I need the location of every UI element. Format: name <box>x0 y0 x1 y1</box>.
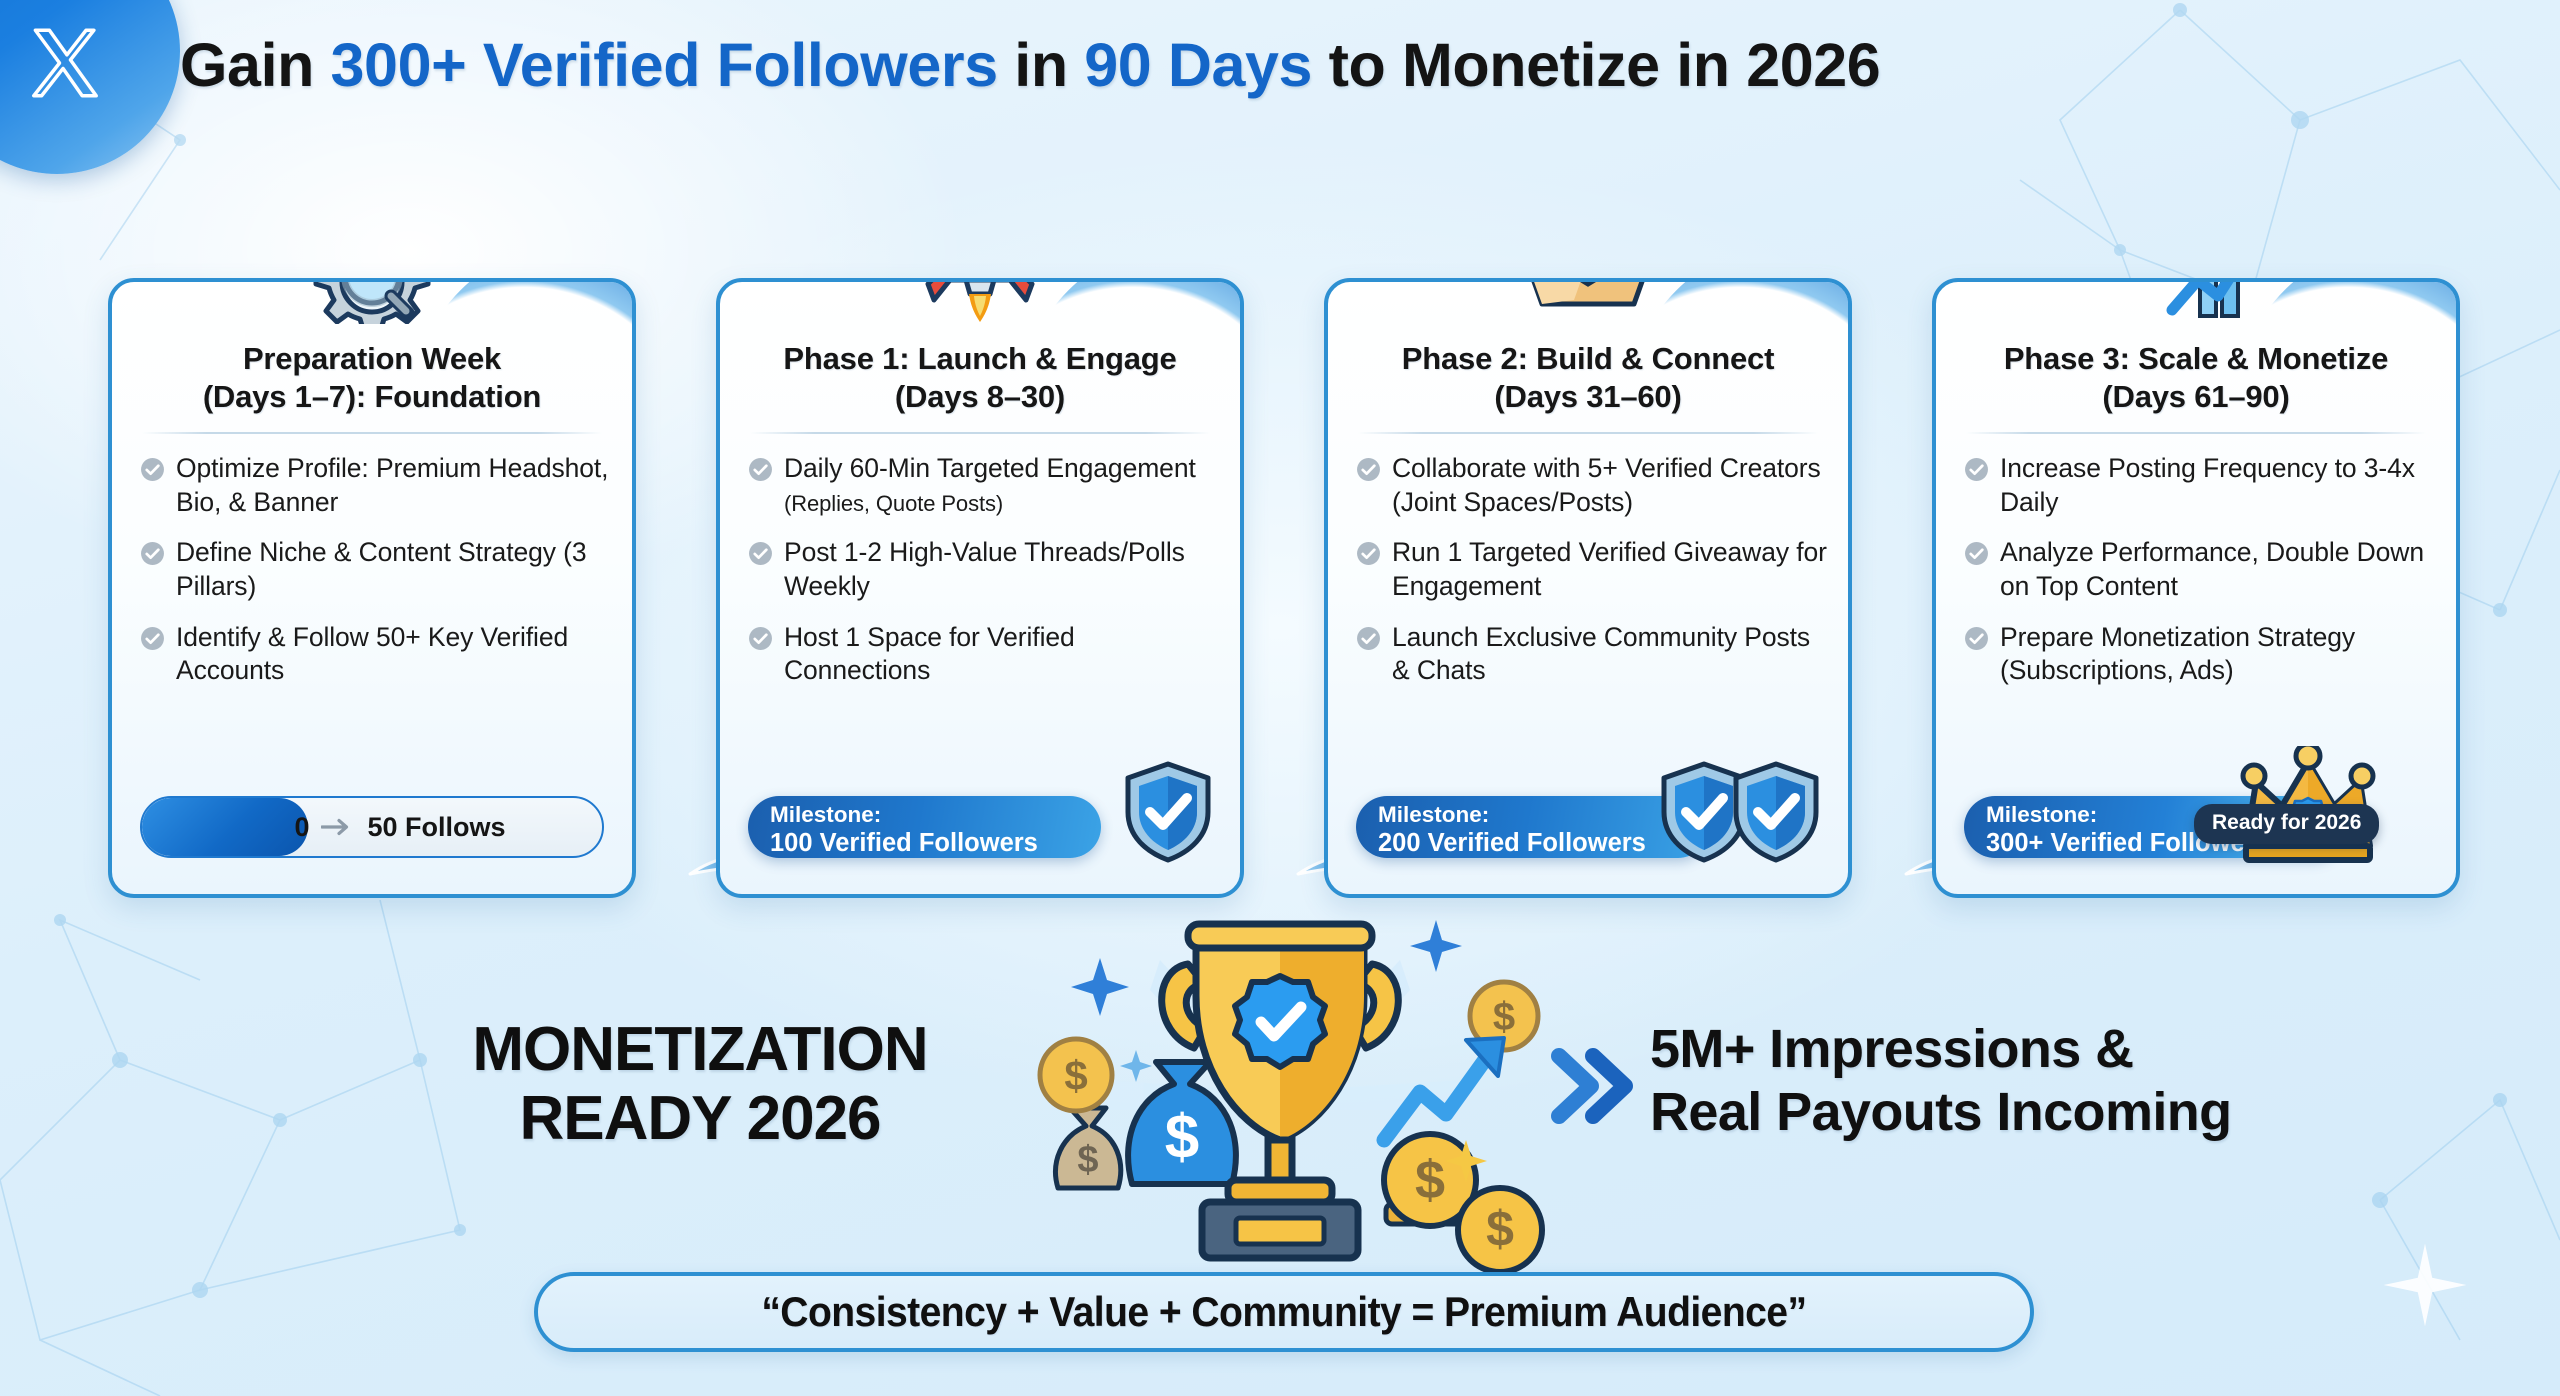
list-item: Optimize Profile: Premium Headshot, Bio,… <box>140 452 612 519</box>
progress-to-value: 50 Follows <box>367 812 505 843</box>
monetization-line2: READY 2026 <box>420 1084 980 1153</box>
list-item: Increase Posting Frequency to 3-4x Daily <box>1964 452 2436 519</box>
headline-highlight-2: 90 Days <box>1084 31 1312 99</box>
check-circle-icon <box>140 457 165 482</box>
bullet-text: Prepare Monetization Strategy (Subscript… <box>2000 622 2355 686</box>
card-title: Phase 2: Build & Connect (Days 31–60) <box>1350 340 1826 416</box>
list-item: Launch Exclusive Community Posts & Chats <box>1356 621 1828 688</box>
impressions-line2: Real Payouts Incoming <box>1650 1081 2480 1144</box>
page-title: Gain 300+ Verified Followers in 90 Days … <box>180 30 2510 100</box>
card-title-line2: (Days 8–30) <box>742 378 1218 416</box>
crown-growth-chart-icon <box>2104 278 2288 324</box>
card-title-line1: Phase 3: Scale & Monetize <box>1958 340 2434 378</box>
card-footer-pill: Milestone: 100 Verified Followers <box>748 796 1212 858</box>
card-title-line1: Phase 1: Launch & Engage <box>742 340 1218 378</box>
phase-card-preparation-week[interactable]: Preparation Week (Days 1–7): Foundation … <box>108 278 636 898</box>
list-item: Host 1 Space for Verified Connections <box>748 621 1220 688</box>
card-bullet-list: Optimize Profile: Premium Headshot, Bio,… <box>140 452 612 705</box>
list-item: Analyze Performance, Double Down on Top … <box>1964 536 2436 603</box>
monetization-line1: MONETIZATION <box>420 1015 980 1084</box>
bullet-text: Optimize Profile: Premium Headshot, Bio,… <box>176 453 608 517</box>
bullet-text: Host 1 Space for Verified Connections <box>784 622 1075 686</box>
follows-progress-bar[interactable]: 0 50 Follows <box>140 796 604 858</box>
check-circle-icon <box>748 626 773 651</box>
card-title: Preparation Week (Days 1–7): Foundation <box>134 340 610 416</box>
check-circle-icon <box>748 457 773 482</box>
impressions-callout: 5M+ Impressions & Real Payouts Incoming <box>1650 1018 2480 1144</box>
svg-text:$: $ <box>1415 1150 1445 1210</box>
card-title-line1: Preparation Week <box>134 340 610 378</box>
gear-magnifier-icon <box>280 278 464 324</box>
milestone-label: Milestone: <box>770 802 1101 828</box>
card-title-line2: (Days 61–90) <box>1958 378 2434 416</box>
card-footer-pill: 0 50 Follows <box>140 796 604 858</box>
milestone-value: 100 Verified Followers <box>770 828 1101 859</box>
headline-highlight-1: 300+ Verified Followers <box>331 31 998 99</box>
check-circle-icon <box>1964 457 1989 482</box>
monetization-ready-title: MONETIZATION READY 2026 <box>420 1015 980 1154</box>
list-item: Prepare Monetization Strategy (Subscript… <box>1964 621 2436 688</box>
phase-card-launch-engage[interactable]: Phase 1: Launch & Engage (Days 8–30) Dai… <box>716 278 1244 898</box>
milestone-badge: Milestone: 100 Verified Followers <box>748 796 1101 858</box>
rocket-icon <box>888 278 1072 324</box>
card-divider <box>1358 432 1818 434</box>
card-title-line2: (Days 31–60) <box>1350 378 1826 416</box>
progress-from-value: 0 <box>294 812 309 843</box>
check-circle-icon <box>1964 626 1989 651</box>
bullet-text: Launch Exclusive Community Posts & Chats <box>1392 622 1810 686</box>
svg-text:$: $ <box>1064 1052 1087 1099</box>
bullet-text: Run 1 Targeted Verified Giveaway for Eng… <box>1392 537 1827 601</box>
bullet-text: Post 1-2 High-Value Threads/Polls Weekly <box>784 537 1185 601</box>
arrow-right-icon <box>321 818 355 836</box>
ready-for-2026-tag: Ready for 2026 <box>2194 804 2379 844</box>
trophy-money-icon: $ $ $ $ $ $ <box>1000 900 1560 1280</box>
milestone-badge: Milestone: 200 Verified Followers <box>1356 796 1709 858</box>
check-circle-icon <box>140 626 165 651</box>
card-divider <box>1966 432 2426 434</box>
list-item: Run 1 Targeted Verified Giveaway for Eng… <box>1356 536 1828 603</box>
card-footer-pill: Milestone: 200 Verified Followers <box>1356 796 1820 858</box>
check-circle-icon <box>1356 541 1381 566</box>
headline-part-2: in <box>998 31 1085 99</box>
card-bullet-list: Collaborate with 5+ Verified Creators (J… <box>1356 452 1828 705</box>
milestone-value: 200 Verified Followers <box>1378 828 1709 859</box>
quote-banner: “Consistency + Value + Community = Premi… <box>534 1272 2034 1352</box>
milestone-label: Milestone: <box>1378 802 1709 828</box>
chevron-double-right-icon <box>1545 1040 1637 1132</box>
shield-check-icon <box>1120 760 1216 864</box>
check-circle-icon <box>1964 541 1989 566</box>
bullet-text: Daily 60-Min Targeted Engagement <box>784 453 1196 483</box>
phase-cards-row: Preparation Week (Days 1–7): Foundation … <box>108 278 2460 898</box>
check-circle-icon <box>1356 457 1381 482</box>
bullet-text: Define Niche & Content Strategy (3 Pilla… <box>176 537 587 601</box>
quote-text: “Consistency + Value + Community = Premi… <box>761 1288 1806 1336</box>
list-item: Define Niche & Content Strategy (3 Pilla… <box>140 536 612 603</box>
card-title-line2: (Days 1–7): Foundation <box>134 378 610 416</box>
svg-text:$: $ <box>1486 1201 1514 1257</box>
check-circle-icon <box>1356 626 1381 651</box>
svg-text:$: $ <box>1165 1103 1199 1172</box>
card-bullet-list: Increase Posting Frequency to 3-4x Daily… <box>1964 452 2436 705</box>
bullet-text: Increase Posting Frequency to 3-4x Daily <box>2000 453 2415 517</box>
svg-text:$: $ <box>1493 995 1515 1039</box>
x-logo-icon <box>26 24 104 102</box>
check-circle-icon <box>140 541 165 566</box>
headline-part-1: Gain <box>180 31 331 99</box>
card-bullet-list: Daily 60-Min Targeted Engagement (Replie… <box>748 452 1220 705</box>
headline-part-3: to Monetize in 2026 <box>1312 31 1880 99</box>
card-title: Phase 1: Launch & Engage (Days 8–30) <box>742 340 1218 416</box>
card-title: Phase 3: Scale & Monetize (Days 61–90) <box>1958 340 2434 416</box>
list-item: Post 1-2 High-Value Threads/Polls Weekly <box>748 536 1220 603</box>
bullet-text: Collaborate with 5+ Verified Creators (J… <box>1392 453 1821 517</box>
phase-card-build-connect[interactable]: Phase 2: Build & Connect (Days 31–60) Co… <box>1324 278 1852 898</box>
bullet-text: Identify & Follow 50+ Key Verified Accou… <box>176 622 568 686</box>
list-item: Daily 60-Min Targeted Engagement (Replie… <box>748 452 1220 519</box>
list-item: Identify & Follow 50+ Key Verified Accou… <box>140 621 612 688</box>
svg-text:$: $ <box>1077 1139 1098 1181</box>
card-title-line1: Phase 2: Build & Connect <box>1350 340 1826 378</box>
bullet-text: Analyze Performance, Double Down on Top … <box>2000 537 2424 601</box>
bullet-subtext: (Replies, Quote Posts) <box>784 491 1003 516</box>
card-divider <box>142 432 602 434</box>
impressions-line1: 5M+ Impressions & <box>1650 1018 2480 1081</box>
card-divider <box>750 432 1210 434</box>
check-circle-icon <box>748 541 773 566</box>
list-item: Collaborate with 5+ Verified Creators (J… <box>1356 452 1828 519</box>
handshake-globe-icon <box>1496 278 1680 324</box>
